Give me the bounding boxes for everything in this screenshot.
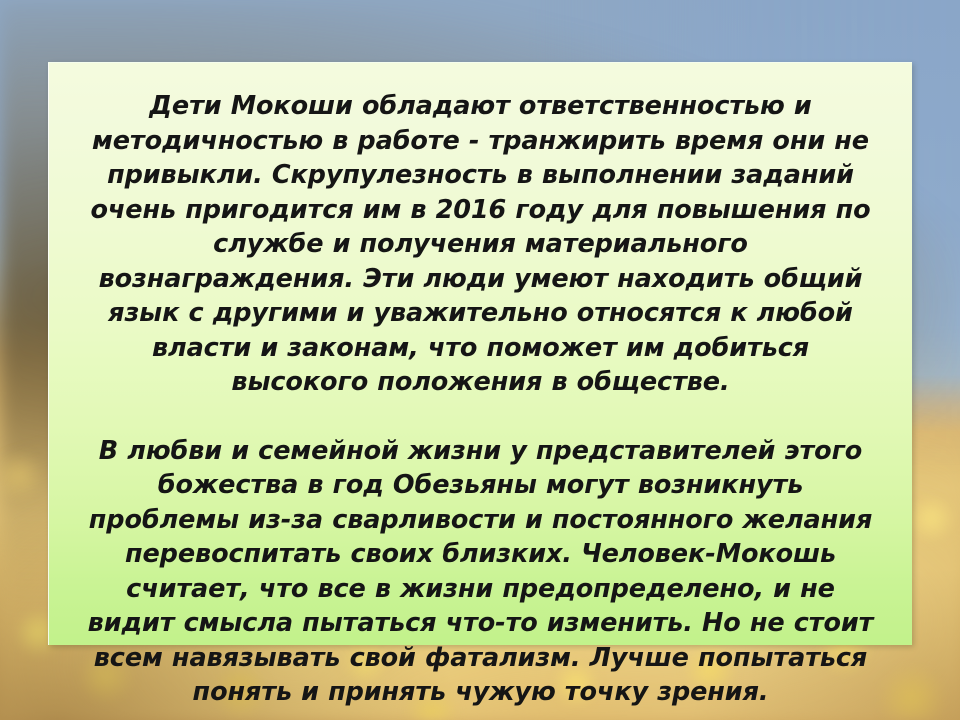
content-card: Дети Мокоши обладают ответственностью и … — [48, 62, 912, 645]
card-text-body: Дети Мокоши обладают ответственностью и … — [49, 63, 912, 710]
paragraph-1: Дети Мокоши обладают ответственностью и … — [85, 89, 876, 400]
presentation-slide: Дети Мокоши обладают ответственностью и … — [0, 0, 960, 720]
paragraph-2: В любви и семейной жизни у представителе… — [85, 434, 876, 710]
